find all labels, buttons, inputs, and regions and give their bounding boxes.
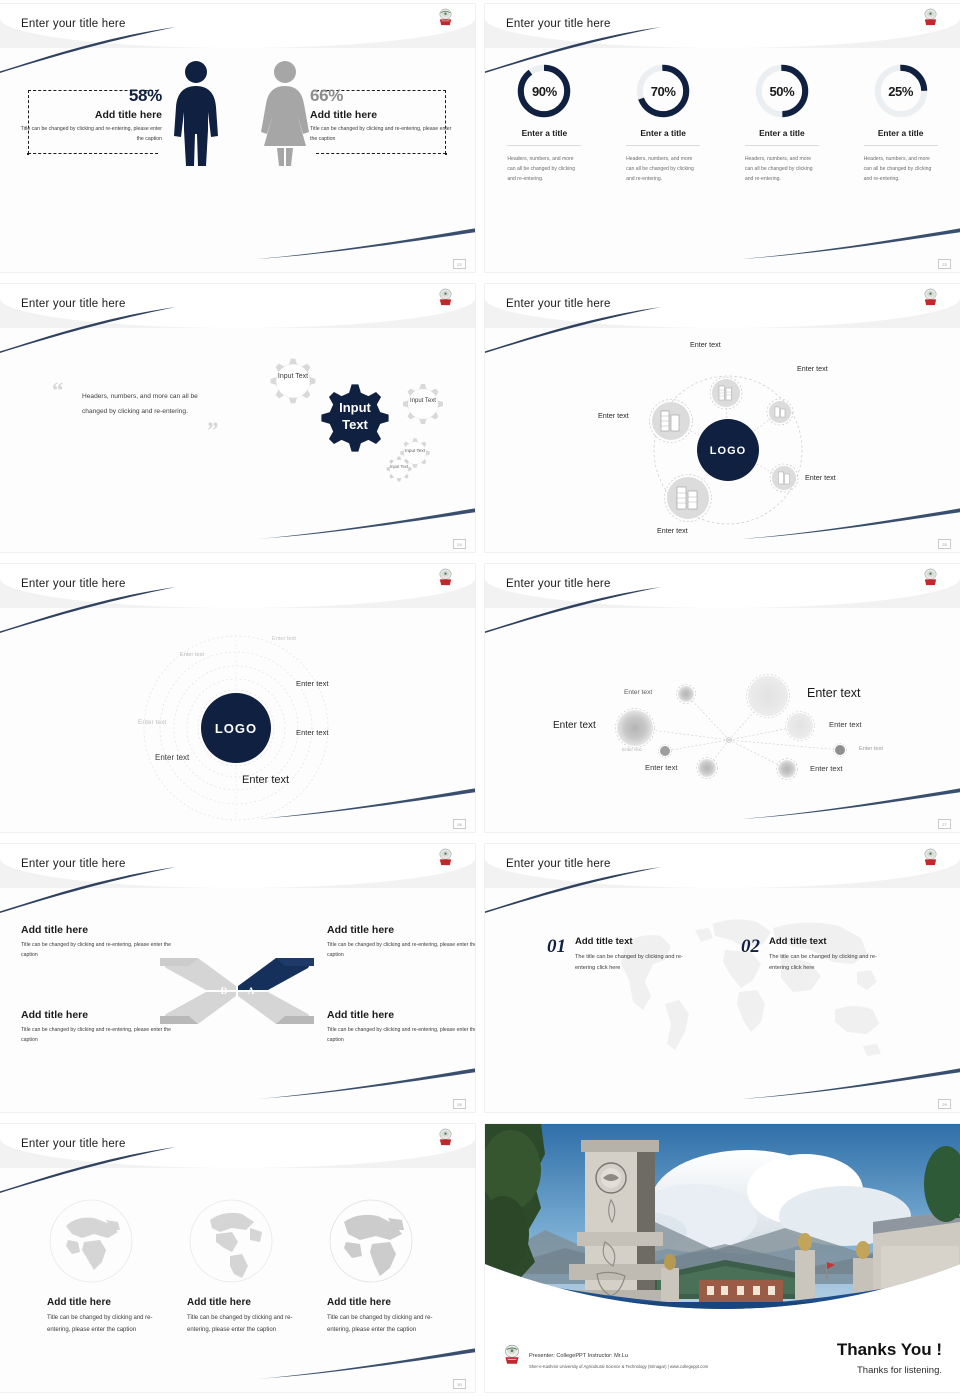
node-label-upper-right: Enter text xyxy=(797,364,828,373)
donut-chart: 70% xyxy=(634,62,692,120)
slide-canvas: 90% Enter a title Headers, numbers, and … xyxy=(485,48,960,272)
gear-right xyxy=(403,384,443,424)
item-body: The title can be changed by clicking and… xyxy=(575,952,703,974)
orbit-label-2: Enter text xyxy=(180,652,204,658)
quadrant-heading: Add title here xyxy=(21,924,173,936)
donut-body: Headers, numbers, and more can all be ch… xyxy=(507,154,581,185)
network-label-tiny-left: Enter text xyxy=(622,747,642,752)
donut-percent: 70% xyxy=(634,62,692,120)
slide-canvas: LOGO Enter text Enter text Enter text En… xyxy=(0,608,475,832)
node-left[interactable] xyxy=(650,400,693,443)
thanks-heading: Thanks You ! xyxy=(837,1340,942,1360)
donut-percent: 25% xyxy=(872,62,930,120)
node-upper-right[interactable] xyxy=(767,399,793,425)
network-node-md-right[interactable] xyxy=(786,712,815,741)
quadrant-text-bottom-right: Add title here Title can be changed by c… xyxy=(327,1009,475,1045)
slide-number: 23 xyxy=(938,259,951,269)
center-logo-label: LOGO xyxy=(215,721,257,736)
donut-body: Headers, numbers, and more can all be ch… xyxy=(745,154,819,185)
donut-chart: 25% xyxy=(872,62,930,120)
bowtie-letter-d: D xyxy=(221,987,228,997)
right-body: Title can be changed by clicking and re-… xyxy=(310,125,460,144)
globe-americas-icon xyxy=(188,1198,274,1284)
slide-number: 29 xyxy=(938,1099,951,1109)
divider xyxy=(864,145,938,146)
slide-gender-comparison[interactable]: Enter your title here xyxy=(0,0,480,280)
university-crest-icon xyxy=(436,7,455,27)
network-label-bottom-left: Enter text xyxy=(645,763,678,772)
slide-deck: Enter your title here xyxy=(0,0,960,1400)
gear-label: Input Text xyxy=(410,398,436,404)
quadrant-heading: Add title here xyxy=(327,924,475,936)
network-label-primary: Enter text xyxy=(807,686,861,700)
donut-heading: Enter a title xyxy=(878,128,924,138)
globe-atlantic-icon xyxy=(328,1198,414,1284)
quadrant-heading: Add title here xyxy=(327,1009,475,1021)
bowtie-letter-a: A xyxy=(248,987,255,997)
hub-spoke-diagram: LOGO xyxy=(485,328,960,552)
university-crest-icon xyxy=(436,847,455,867)
slide-canvas: 58% Add title here Title can be changed … xyxy=(0,48,475,272)
network-node-xs-right[interactable] xyxy=(834,744,847,757)
frame-dot xyxy=(445,153,447,155)
node-bottom[interactable] xyxy=(665,475,712,522)
orbit-label-3: Enter text xyxy=(296,679,329,688)
quadrant-body: Title can be changed by clicking and re-… xyxy=(327,1025,475,1045)
campus-gate-photo xyxy=(485,1124,960,1309)
network-label-upper: Enter text xyxy=(624,689,652,696)
slide-canvas: Add title here Title can be changed by c… xyxy=(0,888,475,1112)
item-heading: Add title text xyxy=(769,936,897,947)
gear-top-left xyxy=(271,359,316,404)
node-label-lower-right: Enter text xyxy=(805,473,836,482)
bowtie-letter-b: B xyxy=(248,1007,255,1017)
slide-numbered-world-map[interactable]: Enter your title here xyxy=(480,840,960,1120)
slide-gears-quote[interactable]: Enter your title here “ ” Headers, numbe… xyxy=(0,280,480,560)
gear-bottom xyxy=(387,457,412,482)
slide-canvas: Add title here Title can be changed by c… xyxy=(0,1168,475,1392)
globe-body: Title can be changed by clicking and re-… xyxy=(327,1312,445,1336)
network-node-sm-bottom-right[interactable] xyxy=(777,759,798,780)
item-body: The title can be changed by clicking and… xyxy=(769,952,897,974)
gear-label: Input Text xyxy=(405,448,426,453)
gear-label: Input Text xyxy=(278,373,308,380)
globe-body: Title can be changed by clicking and re-… xyxy=(187,1312,305,1336)
slide-number: 25 xyxy=(938,539,951,549)
donut-card[interactable]: 90% Enter a title Headers, numbers, and … xyxy=(485,62,604,185)
gear-label: Input Text xyxy=(390,464,409,469)
university-crest-icon xyxy=(436,1127,455,1147)
slide-canvas: LOGO Enter text Enter text Enter text En… xyxy=(485,328,960,552)
quadrant-body: Title can be changed by clicking and re-… xyxy=(21,940,173,960)
globe-column-2[interactable]: Add title here Title can be changed by c… xyxy=(187,1198,305,1336)
donut-card[interactable]: 50% Enter a title Headers, numbers, and … xyxy=(723,62,842,185)
slide-concentric-orbits[interactable]: Enter your title here xyxy=(0,560,480,840)
bowtie-letter-c: C xyxy=(221,1007,228,1017)
network-label-left: Enter text xyxy=(553,720,596,731)
network-label-bottom-right: Enter text xyxy=(810,764,843,773)
slide-hub-and-spoke-buildings[interactable]: Enter your title here xyxy=(480,280,960,560)
divider xyxy=(745,145,819,146)
network-node-xs-left[interactable] xyxy=(659,745,672,758)
donut-body: Headers, numbers, and more can all be ch… xyxy=(626,154,700,185)
globe-body: Title can be changed by clicking and re-… xyxy=(47,1312,165,1336)
quadrant-text-bottom-left: Add title here Title can be changed by c… xyxy=(21,1009,173,1045)
donut-chart: 90% xyxy=(515,62,573,120)
node-label-left: Enter text xyxy=(598,411,629,420)
concentric-orbit-diagram: LOGO xyxy=(0,608,475,832)
right-stat-block: 66% Add title here Title can be changed … xyxy=(310,86,460,144)
university-crest-icon xyxy=(921,7,940,27)
divider xyxy=(626,145,700,146)
donut-heading: Enter a title xyxy=(759,128,805,138)
slide-radial-network[interactable]: Enter your title here xyxy=(480,560,960,840)
donut-card[interactable]: 70% Enter a title Headers, numbers, and … xyxy=(604,62,723,185)
university-crest-icon xyxy=(921,287,940,307)
globe-column-3[interactable]: Add title here Title can be changed by c… xyxy=(327,1198,445,1336)
network-label-tiny-right: Enter text xyxy=(859,746,883,752)
item-number: 01 xyxy=(547,936,566,958)
network-node-xl[interactable] xyxy=(747,675,790,718)
node-label-bottom: Enter text xyxy=(657,526,688,535)
slide-number: 30 xyxy=(453,1379,466,1389)
slide-thank-you-closing[interactable]: Presenter: CollegePPT Instructor: Mr.Lu … xyxy=(480,1120,960,1400)
slide-bowtie-four-quadrant[interactable]: Enter your title here Add title here Tit… xyxy=(0,840,480,1120)
slide-number: 27 xyxy=(938,819,951,829)
quadrant-body: Title can be changed by clicking and re-… xyxy=(21,1025,173,1045)
left-percent: 58% xyxy=(12,86,162,106)
network-node-lg[interactable] xyxy=(616,709,655,748)
university-crest-icon xyxy=(921,567,940,587)
left-heading: Add title here xyxy=(12,109,162,121)
female-figure-icon xyxy=(258,60,312,168)
left-body: Title can be changed by clicking and re-… xyxy=(12,125,162,144)
numbered-item-2: 02 Add title text The title can be chang… xyxy=(741,936,897,974)
divider xyxy=(507,145,581,146)
bowtie-diagram: D A C B xyxy=(158,946,316,1036)
world-map-icon xyxy=(605,906,895,1066)
globe-heading: Add title here xyxy=(187,1297,305,1308)
node-label-top: Enter text xyxy=(690,340,721,349)
right-heading: Add title here xyxy=(310,109,460,121)
university-crest-icon xyxy=(436,567,455,587)
university-crest-icon xyxy=(436,287,455,307)
frame-dot xyxy=(27,153,29,155)
quote-open-icon: “ xyxy=(52,378,64,404)
male-figure-icon xyxy=(170,60,222,168)
donut-heading: Enter a title xyxy=(640,128,686,138)
quadrant-text-top-right: Add title here Title can be changed by c… xyxy=(327,924,475,960)
orbit-label-5: Enter text xyxy=(138,719,166,726)
quote-text: Headers, numbers, and more can all be ch… xyxy=(82,390,212,420)
quote-close-icon: ” xyxy=(207,418,219,444)
globe-heading: Add title here xyxy=(327,1297,445,1308)
gear-main-label-line1: Input xyxy=(339,400,371,415)
university-crest-icon xyxy=(501,1343,523,1366)
quadrant-heading: Add title here xyxy=(21,1009,173,1021)
gear-cluster: Input Text Input Text Input Text xyxy=(225,336,465,506)
right-percent: 66% xyxy=(310,86,460,106)
presenter-line: Presenter: CollegePPT Instructor: Mr.Lu xyxy=(529,1353,628,1359)
orbit-label-1: Enter text xyxy=(272,636,296,642)
university-crest-icon xyxy=(921,847,940,867)
slide-canvas: Enter text Enter text Enter text Enter t… xyxy=(485,608,960,832)
thanks-subtitle: Thanks for listening. xyxy=(857,1365,942,1376)
quadrant-body: Title can be changed by clicking and re-… xyxy=(327,940,475,960)
affiliation-line: Sher-e-Kashmir University of Agricultura… xyxy=(529,1364,708,1369)
slide-donut-progress-row[interactable]: Enter your title here xyxy=(480,0,960,280)
slide-canvas: “ ” Headers, numbers, and more can all b… xyxy=(0,328,475,552)
donut-percent: 50% xyxy=(753,62,811,120)
globe-column-1[interactable]: Add title here Title can be changed by c… xyxy=(47,1198,165,1336)
slide-three-globes[interactable]: Enter your title here xyxy=(0,1120,480,1400)
slide-number: 22 xyxy=(453,259,466,269)
donut-heading: Enter a title xyxy=(522,128,568,138)
network-label-right: Enter text xyxy=(829,720,862,729)
globe-europe-africa-icon xyxy=(48,1198,134,1284)
donut-card[interactable]: 25% Enter a title Headers, numbers, and … xyxy=(841,62,960,185)
item-heading: Add title text xyxy=(575,936,703,947)
orbit-label-primary: Enter text xyxy=(242,774,289,786)
slide-number: 24 xyxy=(453,539,466,549)
gear-main-label-line2: Text xyxy=(342,417,368,432)
left-stat-block: 58% Add title here Title can be changed … xyxy=(12,86,162,144)
donut-percent: 90% xyxy=(515,62,573,120)
orbit-label-6: Enter text xyxy=(155,753,189,762)
network-node-sm-upper[interactable] xyxy=(677,685,696,704)
item-number: 02 xyxy=(741,936,760,958)
donut-row: 90% Enter a title Headers, numbers, and … xyxy=(485,62,960,185)
orbit-label-4: Enter text xyxy=(296,728,329,737)
slide-number: 26 xyxy=(453,819,466,829)
network-node-sm-bottom-left[interactable] xyxy=(697,758,718,779)
globe-heading: Add title here xyxy=(47,1297,165,1308)
node-lower-right[interactable] xyxy=(770,464,798,492)
numbered-item-1: 01 Add title text The title can be chang… xyxy=(547,936,703,974)
donut-chart: 50% xyxy=(753,62,811,120)
quadrant-text-top-left: Add title here Title can be changed by c… xyxy=(21,924,173,960)
donut-body: Headers, numbers, and more can all be ch… xyxy=(864,154,938,185)
center-logo-label: LOGO xyxy=(710,445,746,457)
slide-number: 28 xyxy=(453,1099,466,1109)
slide-canvas: 01 Add title text The title can be chang… xyxy=(485,888,960,1112)
node-top[interactable] xyxy=(710,377,742,409)
